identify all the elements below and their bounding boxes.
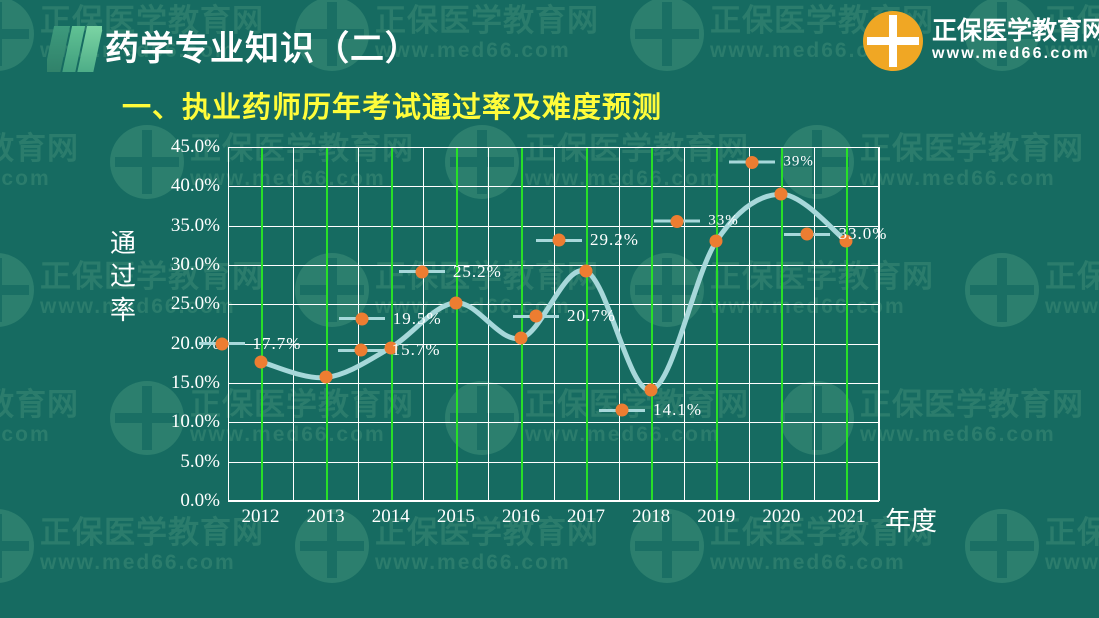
brand-name: 正保医学教育网: [932, 17, 1099, 45]
data-point-marker: [254, 355, 267, 368]
callout-leader-line: [513, 315, 559, 318]
y-axis-tick: 10.0%: [145, 411, 220, 433]
data-point-marker: [775, 188, 788, 201]
data-label-callout: 20.7%: [513, 306, 616, 326]
callout-marker-icon: [355, 312, 368, 325]
data-label-text: 15.7%: [392, 340, 441, 360]
y-axis-tick: 5.0%: [145, 451, 220, 473]
x-axis-tick: 2012: [242, 506, 280, 528]
data-point-marker: [319, 371, 332, 384]
x-axis-tick: 2018: [632, 506, 670, 528]
callout-marker-icon: [354, 344, 367, 357]
data-label-text: 17.7%: [253, 334, 302, 354]
data-point-marker: [580, 265, 593, 278]
y-axis-tick: 35.0%: [145, 215, 220, 237]
data-label-callout: 25.2%: [399, 262, 502, 282]
y-axis-tick: 30.0%: [145, 254, 220, 276]
y-axis-tick: 45.0%: [145, 136, 220, 158]
x-axis-tick: 2021: [827, 506, 865, 528]
data-label-callout: 39%: [729, 154, 814, 171]
data-point-marker: [514, 332, 527, 345]
brand-logo: 正保医学教育网 www.med66.com: [863, 8, 1087, 74]
callout-marker-icon: [529, 310, 542, 323]
callout-marker-icon: [215, 337, 228, 350]
data-label-callout: 19.5%: [339, 309, 442, 329]
data-label-text: 20.7%: [567, 306, 616, 326]
page-title: 药学专业知识（二）: [105, 21, 420, 70]
y-axis-title-char: 通: [103, 228, 143, 261]
data-point-marker: [710, 235, 723, 248]
data-label-text: 33.0%: [838, 224, 887, 244]
x-axis-tick: 2020: [762, 506, 800, 528]
data-label-text: 29.2%: [590, 230, 639, 250]
section-subtitle: 一、执业药师历年考试通过率及难度预测: [122, 84, 662, 126]
y-axis-tick: 15.0%: [145, 372, 220, 394]
horizontal-gridline: [228, 501, 879, 502]
callout-marker-icon: [415, 265, 428, 278]
callout-leader-line: [199, 342, 245, 345]
x-axis-tick: 2013: [307, 506, 345, 528]
brand-url: www.med66.com: [932, 44, 1099, 65]
data-label-callout: 17.7%: [199, 334, 302, 354]
y-axis-tick: 25.0%: [145, 293, 220, 315]
data-label-text: 33%: [708, 213, 739, 230]
data-label-text: 39%: [783, 154, 814, 171]
x-axis-tick: 2014: [372, 506, 410, 528]
x-axis-title: 年度: [885, 501, 937, 538]
data-label-callout: 33.0%: [784, 224, 887, 244]
callout-leader-line: [729, 161, 775, 164]
y-axis-title: 通过率: [103, 228, 143, 328]
callout-marker-icon: [553, 234, 566, 247]
callout-leader-line: [536, 239, 582, 242]
data-label-text: 19.5%: [393, 309, 442, 329]
callout-leader-line: [399, 270, 445, 273]
y-axis-tick: 0.0%: [145, 490, 220, 512]
data-point-marker: [449, 296, 462, 309]
data-label-callout: 15.7%: [338, 340, 441, 360]
callout-marker-icon: [801, 228, 814, 241]
callout-leader-line: [784, 233, 830, 236]
x-axis-tick: 2019: [697, 506, 735, 528]
y-axis-title-char: 过: [103, 261, 143, 294]
callout-leader-line: [339, 317, 385, 320]
data-label-callout: 29.2%: [536, 230, 639, 250]
callout-leader-line: [338, 349, 384, 352]
data-label-callout: 33%: [654, 213, 739, 230]
callout-leader-line: [654, 220, 700, 223]
callout-marker-icon: [746, 156, 759, 169]
y-axis-tick: 40.0%: [145, 175, 220, 197]
x-axis-tick: 2017: [567, 506, 605, 528]
data-point-marker: [645, 384, 658, 397]
slanted-bars-icon: [47, 26, 102, 72]
data-label-text: 25.2%: [453, 262, 502, 282]
vertical-gridline: [879, 147, 880, 501]
data-label-callout: 14.1%: [599, 400, 702, 420]
x-axis-tick: 2016: [502, 506, 540, 528]
callout-marker-icon: [616, 404, 629, 417]
x-axis-tick: 2015: [437, 506, 475, 528]
callout-leader-line: [599, 409, 645, 412]
medical-cross-badge-icon: [863, 11, 923, 71]
data-label-text: 14.1%: [653, 400, 702, 420]
callout-marker-icon: [671, 215, 684, 228]
y-axis-title-char: 率: [103, 295, 143, 328]
